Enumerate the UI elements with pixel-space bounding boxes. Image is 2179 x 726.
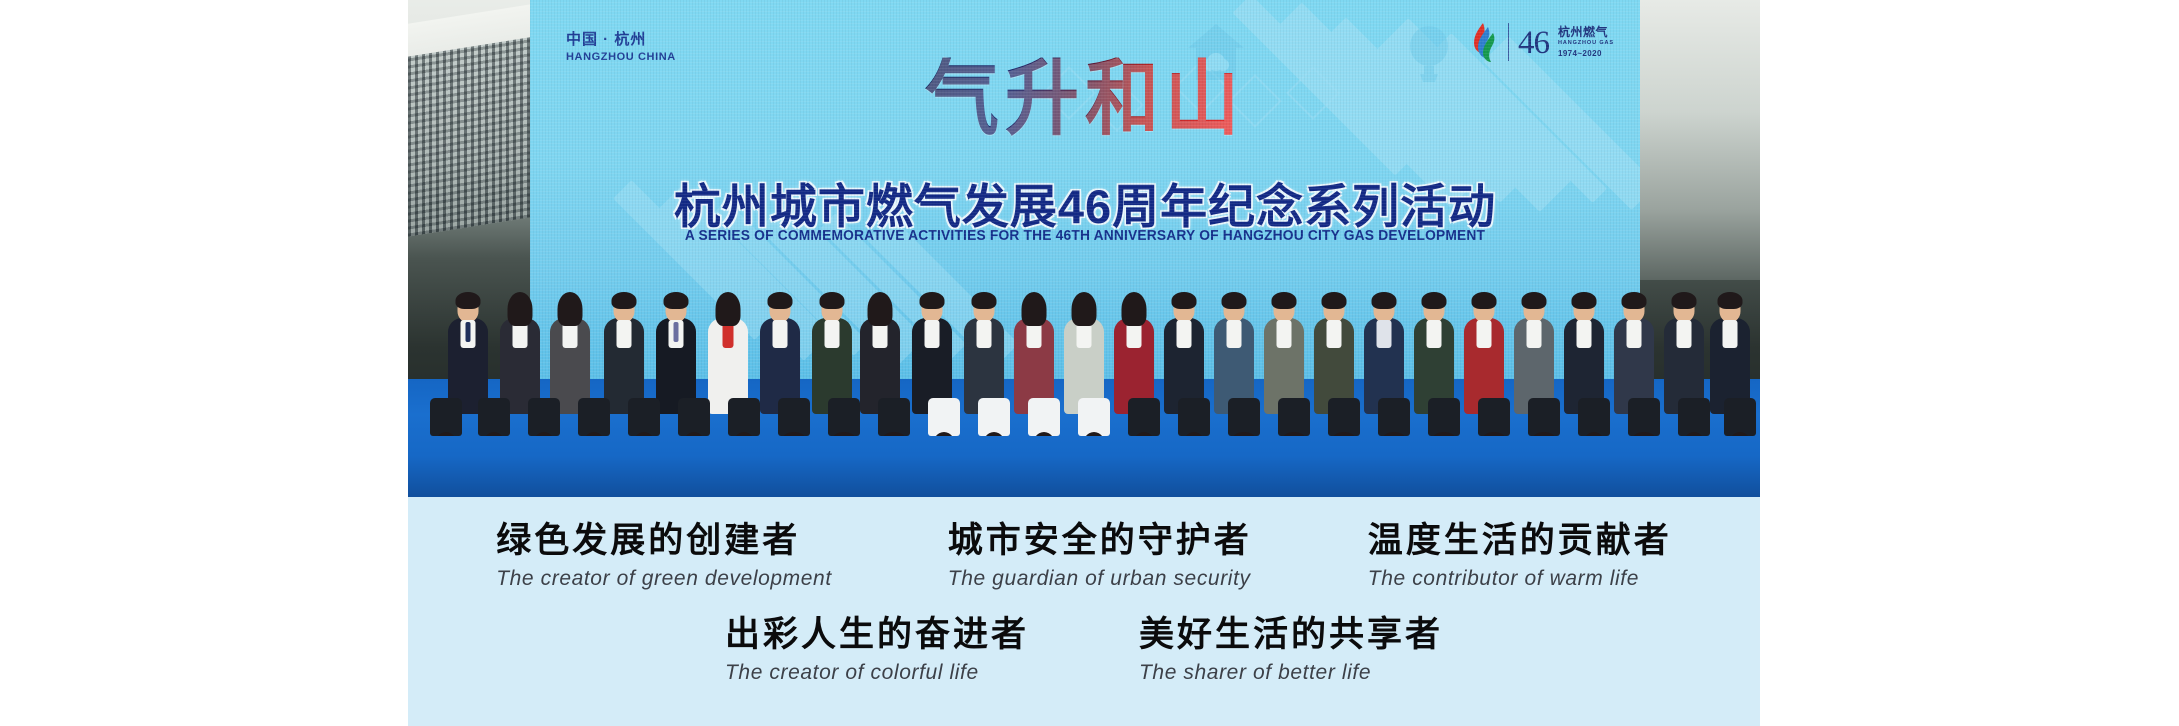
calligraphy-wordmark: 气升和山 <box>530 62 1640 136</box>
slogan-cn: 出彩人生的奋进者 <box>725 615 1029 655</box>
slogan-en: The guardian of urban security <box>948 567 1252 591</box>
company-name-en: HANGZHOU GAS <box>1558 40 1614 47</box>
balloon-icon <box>1402 24 1456 82</box>
slogan-cn: 美好生活的共享者 <box>1139 615 1443 655</box>
slogan-cn: 温度生活的贡献者 <box>1368 521 1672 561</box>
anniversary-number: 46 <box>1518 27 1549 60</box>
brand-years: 1974~2020 <box>1558 49 1614 59</box>
brand-divider <box>1508 23 1509 61</box>
slogan-cn: 城市安全的守护者 <box>948 521 1252 561</box>
flame-logo-icon <box>1469 22 1499 62</box>
slogan-en: The sharer of better life <box>1139 661 1443 685</box>
slogan-item: 美好生活的共享者 The sharer of better life <box>1139 615 1443 685</box>
slogan-en: The creator of green development <box>496 567 832 591</box>
crowd <box>408 176 1760 436</box>
page-root: 中国 · 杭州 HANGZHOU CHINA 46 杭州燃气 HANGZHOU … <box>0 0 2179 726</box>
brand-text: 杭州燃气 HANGZHOU GAS 1974~2020 <box>1558 25 1614 59</box>
slogan-row-1: 绿色发展的创建者 The creator of green developmen… <box>408 521 1760 591</box>
brand-lockup: 46 杭州燃气 HANGZHOU GAS 1974~2020 <box>1469 22 1614 62</box>
place-en: HANGZHOU CHINA <box>566 50 676 65</box>
slogan-row-2: 出彩人生的奋进者 The creator of colorful life 美好… <box>408 615 1760 685</box>
place-cn: 中国 · 杭州 <box>566 30 676 50</box>
wordmark-text: 气升和山 <box>925 58 1245 141</box>
slogan-item: 绿色发展的创建者 The creator of green developmen… <box>496 521 832 591</box>
slogan-item: 城市安全的守护者 The guardian of urban security <box>948 521 1252 591</box>
diamond-motif <box>1050 58 1350 138</box>
slogan-item: 温度生活的贡献者 The contributor of warm life <box>1368 521 1672 591</box>
slogan-item: 出彩人生的奋进者 The creator of colorful life <box>725 615 1029 685</box>
content-column: 中国 · 杭州 HANGZHOU CHINA 46 杭州燃气 HANGZHOU … <box>408 0 1760 726</box>
place-mark: 中国 · 杭州 HANGZHOU CHINA <box>566 30 676 65</box>
slogan-cn: 绿色发展的创建者 <box>496 521 832 561</box>
event-group-photo: 中国 · 杭州 HANGZHOU CHINA 46 杭州燃气 HANGZHOU … <box>408 0 1760 497</box>
slogan-en: The creator of colorful life <box>725 661 1029 685</box>
slogan-panel: 绿色发展的创建者 The creator of green developmen… <box>408 497 1760 726</box>
house-icon <box>1184 22 1248 84</box>
company-name-cn: 杭州燃气 <box>1558 25 1614 40</box>
slogan-en: The contributor of warm life <box>1368 567 1672 591</box>
